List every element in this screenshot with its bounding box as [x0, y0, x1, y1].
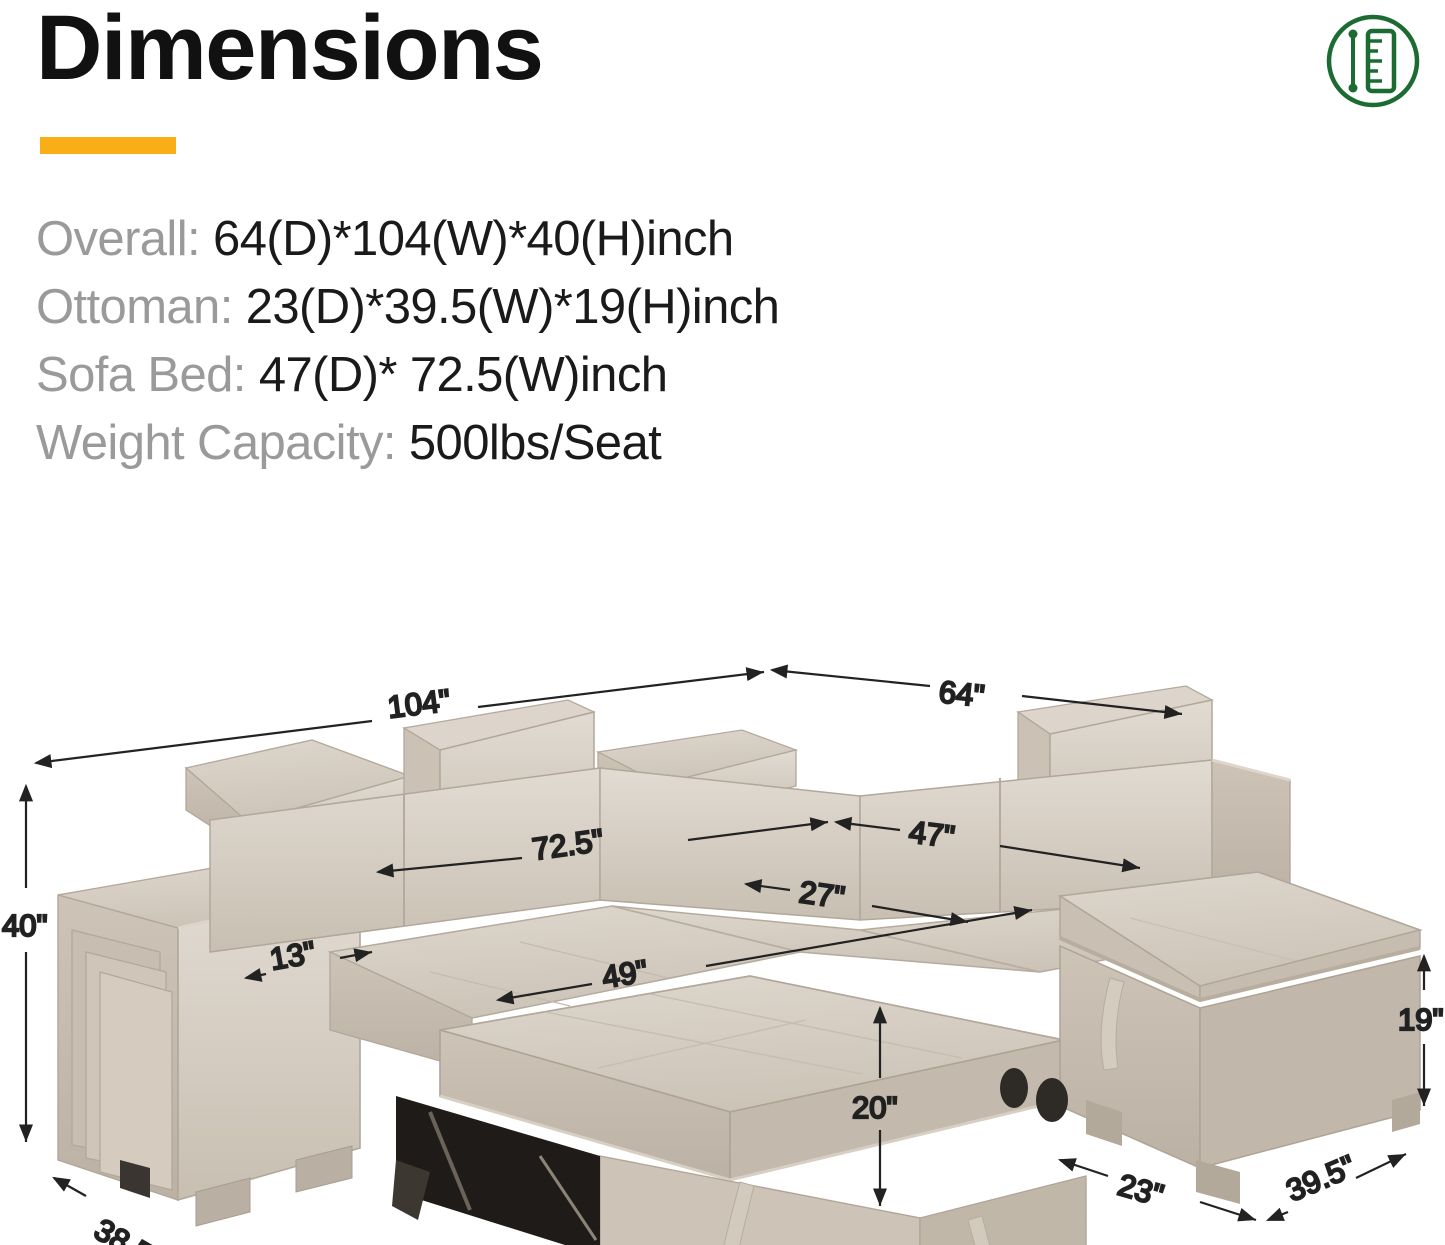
dimension-label-ottoman-depth: 23": [1114, 1167, 1167, 1213]
dimension-label-ottoman-width: 39.5": [1281, 1148, 1360, 1208]
pullout-bed: [392, 976, 1086, 1245]
ruler-icon: [1322, 10, 1424, 112]
spec-row-weight-capacity: Weight Capacity: 500lbs/Seat: [36, 409, 1036, 477]
spec-row-sofa-bed: Sofa Bed: 47(D)* 72.5(W)inch: [36, 341, 1036, 409]
dimension-label-seat-height: 20": [852, 1090, 898, 1125]
right-ottoman: [1000, 872, 1420, 1204]
title-accent-bar: [40, 137, 176, 154]
product-dimension-diagram: 104" 64" 40" 13": [0, 600, 1445, 1245]
spec-row-overall: Overall: 64(D)*104(W)*40(H)inch: [36, 205, 1036, 273]
sofa-illustration: [58, 686, 1420, 1245]
spec-value-weight-capacity: 500lbs/Seat: [409, 416, 661, 470]
spec-label-ottoman: Ottoman:: [36, 280, 233, 334]
spec-label-weight-capacity: Weight Capacity:: [36, 416, 396, 470]
dimension-label-pullout-depth: 27": [797, 874, 847, 915]
spec-label-overall: Overall:: [36, 212, 200, 266]
spec-value-sofa-bed: 47(D)* 72.5(W)inch: [259, 348, 668, 402]
spec-list: Overall: 64(D)*104(W)*40(H)inch Ottoman:…: [36, 205, 1036, 477]
dimension-label-chaise-depth: 38.5": [89, 1212, 168, 1245]
spec-row-ottoman: Ottoman: 23(D)*39.5(W)*19(H)inch: [36, 273, 1036, 341]
dimension-label-pullout-width: 49": [600, 953, 650, 995]
dimensions-infographic: Dimensions Overall: 64(D)*104(W)*40(H)in…: [0, 0, 1445, 1245]
page-title: Dimensions: [36, 0, 542, 99]
spec-label-sofa-bed: Sofa Bed:: [36, 348, 246, 402]
spec-value-ottoman: 23(D)*39.5(W)*19(H)inch: [246, 280, 780, 334]
dimension-label-sofa-bed-depth: 47": [907, 814, 956, 854]
dimension-label-overall-height: 40": [2, 908, 48, 943]
spec-value-overall: 64(D)*104(W)*40(H)inch: [213, 212, 734, 266]
dimension-label-overall-depth: 64": [937, 674, 986, 714]
dimension-label-ottoman-height: 19": [1398, 1002, 1444, 1037]
dimension-label-overall-width: 104": [386, 683, 453, 725]
